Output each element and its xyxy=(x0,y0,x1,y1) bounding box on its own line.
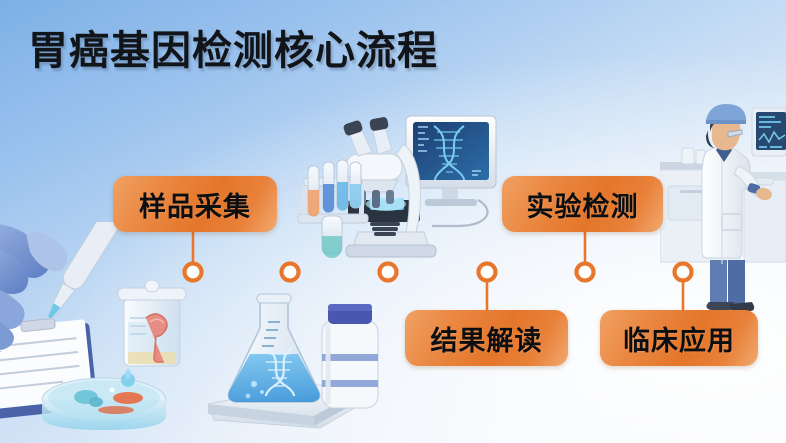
step-label-lab-testing[interactable]: 实验检测 xyxy=(502,176,663,232)
poster-canvas: 胃癌基因检测核心流程 xyxy=(0,0,786,443)
timeline-node xyxy=(479,264,496,281)
timeline-node xyxy=(282,264,299,281)
step-label-result-interpretation[interactable]: 结果解读 xyxy=(405,310,568,366)
timeline-node xyxy=(675,264,692,281)
timeline-node xyxy=(380,264,397,281)
timeline-node xyxy=(577,264,594,281)
step-1-text: 样品采集 xyxy=(139,185,251,224)
step-4-text: 临床应用 xyxy=(623,319,735,358)
step-2-text: 实验检测 xyxy=(527,185,639,224)
step-label-clinical-application[interactable]: 临床应用 xyxy=(600,310,758,366)
step-label-sample-collection[interactable]: 样品采集 xyxy=(113,176,277,232)
step-3-text: 结果解读 xyxy=(431,319,543,358)
timeline-node xyxy=(185,264,202,281)
